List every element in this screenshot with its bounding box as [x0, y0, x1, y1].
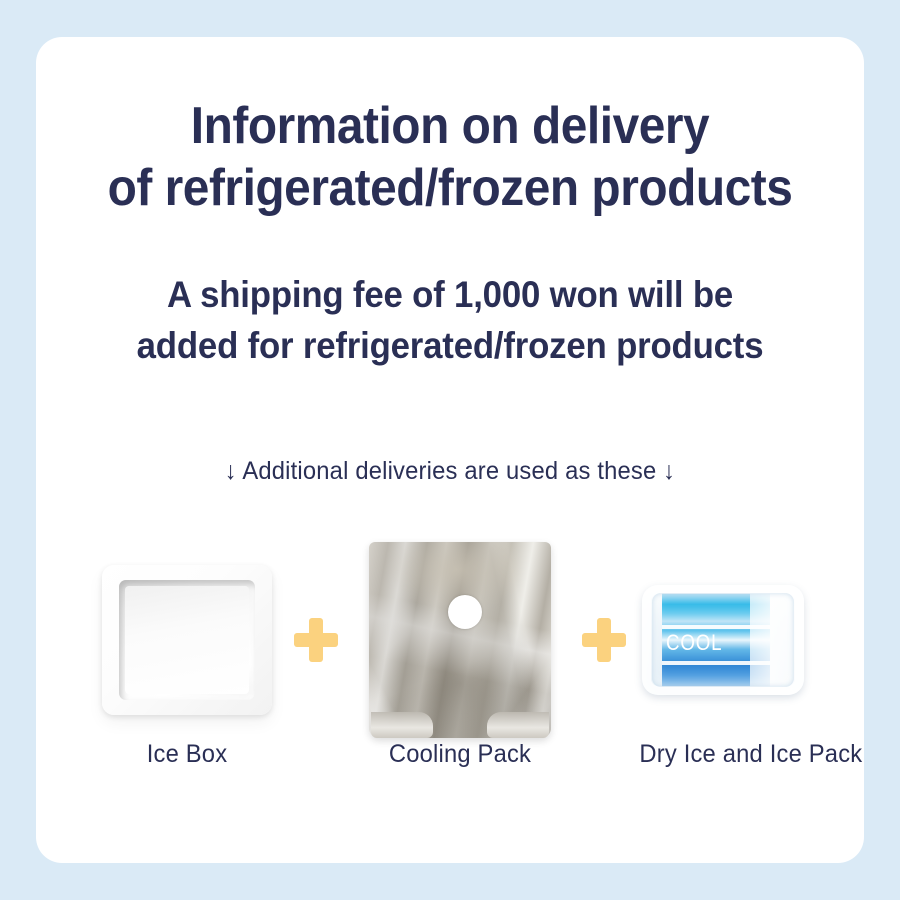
ice-box-cavity — [119, 580, 255, 700]
cooling-pack-base-right — [487, 712, 549, 738]
page-root: Information on delivery of refrigerated/… — [0, 0, 900, 900]
label-dry-ice-and-ice-pack: Dry Ice and Ice Pack — [639, 740, 806, 769]
page-title-line-2: of refrigerated/frozen products — [69, 157, 831, 219]
packaging-labels-row: Ice Box Cooling Pack Dry Ice and Ice Pac… — [36, 729, 864, 779]
delivery-info-card: Information on delivery of refrigerated/… — [36, 37, 864, 863]
product-item-cooling-pack — [347, 535, 573, 745]
product-item-ice-box — [89, 535, 285, 745]
additional-deliveries-hint: ↓ Additional deliveries are used as thes… — [57, 457, 844, 486]
plus-icon — [294, 618, 338, 662]
plus-icon — [582, 618, 626, 662]
label-cooling-pack: Cooling Pack — [353, 740, 568, 769]
shipping-fee-notice: A shipping fee of 1,000 won will be adde… — [36, 269, 864, 371]
cooling-pack-body — [369, 542, 551, 738]
page-title-line-1: Information on delivery — [69, 95, 831, 157]
shipping-fee-notice-line-2: added for refrigerated/frozen products — [61, 320, 839, 371]
page-title: Information on delivery of refrigerated/… — [36, 95, 864, 219]
ice-pack-sealed-rim — [642, 585, 804, 695]
packaging-items-row: COOL — [36, 515, 864, 765]
blue-gel-ice-pack-icon: COOL — [642, 585, 804, 695]
separator-plus-1 — [285, 535, 347, 745]
cooling-pack-base-left — [371, 712, 433, 738]
shipping-fee-notice-line-1: A shipping fee of 1,000 won will be — [61, 269, 839, 320]
separator-plus-2 — [573, 535, 635, 745]
label-ice-box: Ice Box — [94, 740, 280, 769]
silver-foil-cooling-pack-icon — [361, 542, 559, 738]
product-item-ice-pack: COOL — [635, 535, 811, 745]
styrofoam-ice-box-icon — [102, 565, 272, 715]
cooling-pack-vent-hole — [448, 595, 482, 629]
